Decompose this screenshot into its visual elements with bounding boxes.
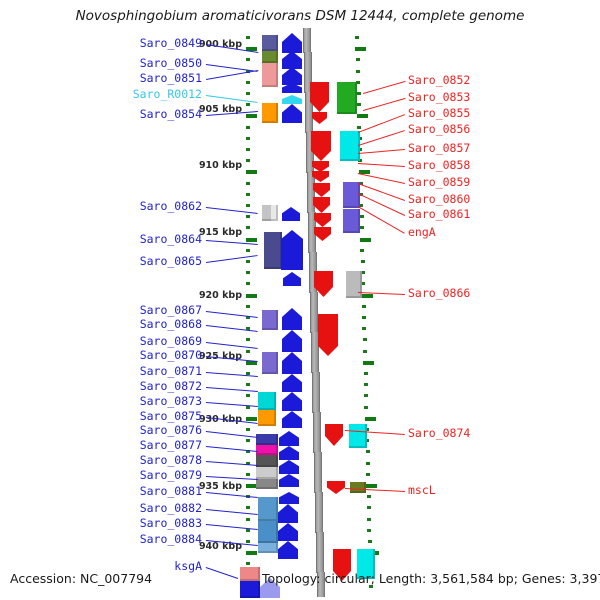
leader-line-left: [206, 255, 258, 263]
gene-box-reverse[interactable]: [337, 82, 357, 114]
tick-mark-left: [246, 193, 250, 196]
feature-label-right[interactable]: Saro_0866: [408, 286, 470, 300]
tick-mark-left: [246, 126, 250, 129]
feature-label-left[interactable]: Saro_0882: [60, 501, 202, 515]
tick-mark-left: [246, 81, 250, 84]
tick-mark-right: [366, 450, 370, 453]
leader-line-left: [206, 207, 258, 214]
gene-box-forward[interactable]: [256, 467, 278, 479]
tick-mark-left: [246, 506, 250, 509]
feature-label-right[interactable]: Saro_0860: [408, 192, 470, 206]
leader-line-left: [206, 476, 258, 480]
tick-mark-right: [363, 338, 367, 341]
gene-arrow-forward[interactable]: [282, 411, 302, 428]
gene-box-forward[interactable]: [256, 455, 278, 467]
tick-mark-right: [362, 327, 366, 330]
feature-label-left[interactable]: Saro_0849: [60, 36, 202, 50]
feature-label-left[interactable]: Saro_0862: [60, 199, 202, 213]
gene-box-forward[interactable]: [256, 479, 278, 489]
feature-label-right[interactable]: mscL: [408, 483, 436, 497]
feature-label-left[interactable]: Saro_0854: [60, 107, 202, 121]
tick-mark-left: [246, 428, 250, 431]
gene-arrow-forward[interactable]: [282, 330, 302, 352]
feature-label-left[interactable]: Saro_0872: [60, 379, 202, 393]
gene-box-forward[interactable]: [262, 35, 278, 51]
feature-label-right[interactable]: Saro_0855: [408, 106, 470, 120]
tick-mark-left: [246, 226, 250, 229]
leader-line-left: [206, 509, 258, 515]
tick-mark-left: [246, 417, 257, 421]
feature-label-left[interactable]: Saro_0869: [60, 334, 202, 348]
tick-mark-right: [362, 294, 373, 298]
accession-status: Accession: NC_007794: [10, 571, 152, 586]
feature-label-left[interactable]: Saro_0884: [60, 532, 202, 546]
tick-mark-right: [362, 305, 366, 308]
tick-mark-left: [246, 529, 250, 532]
tick-mark-left: [246, 159, 250, 162]
tick-mark-right: [357, 92, 361, 95]
ruler-tick-label: 920 kbp: [186, 290, 242, 301]
tick-mark-left: [246, 305, 250, 308]
gene-arrow-reverse[interactable]: [325, 424, 343, 446]
tick-mark-left: [246, 350, 250, 353]
tick-mark-left: [246, 249, 250, 252]
gene-box-forward[interactable]: [240, 581, 260, 598]
tick-mark-right: [367, 495, 371, 498]
feature-label-right[interactable]: Saro_0874: [408, 426, 470, 440]
leader-line-left: [206, 524, 258, 530]
tick-mark-left: [246, 551, 257, 555]
tick-mark-left: [246, 260, 250, 263]
tick-mark-right: [357, 114, 368, 118]
gene-box-forward[interactable]: [240, 567, 260, 581]
tick-mark-right: [355, 47, 366, 51]
tick-mark-right: [360, 249, 364, 252]
feature-label-right[interactable]: Saro_0857: [408, 141, 470, 155]
leader-line-left: [206, 402, 258, 407]
gene-box-forward[interactable]: [262, 310, 278, 330]
gene-box-forward[interactable]: [262, 352, 278, 374]
tick-mark-right: [367, 518, 371, 521]
tick-mark-left: [246, 238, 257, 242]
tick-mark-right: [365, 417, 376, 421]
tick-mark-right: [356, 70, 360, 73]
gene-arrow-forward[interactable]: [282, 352, 302, 374]
feature-label-right[interactable]: Saro_0852: [408, 73, 470, 87]
tick-mark-right: [360, 215, 364, 218]
gene-arrow-forward[interactable]: [279, 431, 299, 446]
feature-label-right[interactable]: Saro_0856: [408, 122, 470, 136]
feature-label-right[interactable]: engA: [408, 225, 436, 239]
tick-mark-left: [246, 282, 250, 285]
feature-label-left[interactable]: Saro_0850: [60, 56, 202, 70]
tick-mark-left: [246, 215, 250, 218]
gene-arrow-forward[interactable]: [282, 67, 302, 85]
feature-label-left[interactable]: Saro_0867: [60, 303, 202, 317]
tick-mark-left: [246, 540, 250, 543]
tick-mark-right: [364, 383, 368, 386]
feature-label-left[interactable]: Saro_R0012: [60, 87, 202, 101]
gene-arrow-forward[interactable]: [279, 474, 299, 487]
feature-label-left[interactable]: Saro_0878: [60, 453, 202, 467]
tick-mark-right: [367, 529, 371, 532]
leader-line-left: [206, 492, 258, 498]
tick-mark-left: [246, 338, 250, 341]
gene-arrow-forward[interactable]: [282, 207, 300, 221]
leader-line-right: [358, 183, 405, 201]
gene-box-forward[interactable]: [258, 543, 278, 553]
feature-label-left[interactable]: Saro_0851: [60, 71, 202, 85]
gene-box-reverse[interactable]: [349, 424, 367, 448]
tick-mark-right: [364, 406, 368, 409]
leader-line-left: [206, 311, 258, 318]
tick-mark-right: [357, 103, 361, 106]
gene-arrow-forward[interactable]: [282, 33, 302, 53]
feature-label-right[interactable]: Saro_0858: [408, 158, 470, 172]
gene-arrow-forward[interactable]: [282, 308, 302, 330]
gene-arrow-reverse[interactable]: [314, 227, 331, 241]
gene-box-reverse[interactable]: [340, 131, 360, 161]
gene-arrow-reverse[interactable]: [327, 481, 345, 494]
tick-mark-left: [246, 394, 250, 397]
tick-mark-left: [246, 294, 257, 298]
gene-box-forward[interactable]: [256, 434, 278, 445]
leader-line-left: [206, 387, 258, 392]
feature-label-left[interactable]: Saro_0883: [60, 516, 202, 530]
feature-label-left[interactable]: Saro_0875: [60, 409, 202, 423]
tick-mark-left: [246, 148, 250, 151]
feature-label-left[interactable]: Saro_0873: [60, 394, 202, 408]
feature-label-right[interactable]: Saro_0861: [408, 207, 470, 221]
gene-arrow-forward[interactable]: [279, 460, 299, 474]
tick-mark-left: [246, 58, 250, 61]
ruler-tick-label: 910 kbp: [186, 160, 242, 171]
tick-mark-right: [357, 126, 361, 129]
feature-label-left[interactable]: Saro_0865: [60, 254, 202, 268]
tick-mark-right: [360, 238, 371, 242]
leader-line-left: [206, 431, 258, 438]
tick-mark-left: [246, 518, 250, 521]
gene-box-forward[interactable]: [262, 51, 278, 63]
gene-box-forward[interactable]: [258, 410, 276, 426]
gene-arrow-reverse[interactable]: [312, 161, 329, 172]
gene-arrow-forward[interactable]: [281, 230, 303, 270]
tick-mark-left: [246, 103, 250, 106]
tick-mark-right: [356, 58, 360, 61]
gene-box-forward[interactable]: [258, 521, 278, 543]
tick-mark-left: [246, 92, 250, 95]
gene-arrow-forward[interactable]: [278, 541, 298, 559]
leader-line-right: [358, 163, 405, 167]
gene-box-reverse[interactable]: [346, 271, 362, 298]
leader-line-right: [358, 206, 405, 234]
leader-line-left: [206, 446, 258, 452]
tick-mark-left: [246, 137, 250, 140]
leader-line-right: [358, 130, 405, 146]
leader-line-right: [358, 173, 405, 184]
feature-label-left[interactable]: Saro_0868: [60, 317, 202, 331]
gene-arrow-forward[interactable]: [279, 492, 299, 504]
leader-line-right: [358, 149, 405, 154]
gene-box-reverse[interactable]: [343, 182, 360, 208]
feature-label-left[interactable]: Saro_0870: [60, 348, 202, 362]
gene-arrow-reverse[interactable]: [313, 197, 330, 213]
gene-box-reverse[interactable]: [343, 209, 360, 233]
leader-line-left: [206, 461, 258, 466]
tick-mark-right: [364, 394, 368, 397]
gene-arrow-forward[interactable]: [282, 104, 302, 123]
gene-arrow-forward[interactable]: [282, 374, 302, 392]
tick-mark-left: [246, 36, 250, 39]
gene-box-forward[interactable]: [262, 103, 278, 123]
axis-segment: [317, 588, 325, 597]
leader-line-left: [206, 372, 258, 377]
tick-mark-left: [246, 182, 250, 185]
genome-browser-canvas: Novosphingobium aromaticivorans DSM 1244…: [0, 0, 600, 600]
gene-arrow-forward[interactable]: [282, 51, 302, 69]
gene-box-forward[interactable]: [256, 445, 278, 455]
topology-status: Topology: circular; Length: 3,561,584 bp…: [262, 571, 600, 586]
tick-mark-right: [363, 361, 374, 365]
feature-label-left[interactable]: Saro_0881: [60, 484, 202, 498]
tick-mark-left: [246, 439, 250, 442]
feature-label-left[interactable]: Saro_0864: [60, 232, 202, 246]
page-title: Novosphingobium aromaticivorans DSM 1244…: [0, 8, 600, 24]
tick-mark-right: [360, 226, 364, 229]
tick-mark-right: [361, 260, 365, 263]
leader-line-left: [206, 70, 258, 80]
gene-arrow-forward[interactable]: [279, 446, 299, 460]
leader-line-right: [363, 98, 405, 111]
gene-arrow-reverse[interactable]: [314, 213, 331, 227]
tick-mark-left: [246, 473, 250, 476]
tick-mark-left: [246, 383, 250, 386]
gene-box-forward[interactable]: [258, 392, 276, 410]
leader-line-left: [206, 342, 258, 349]
gene-arrow-forward[interactable]: [278, 504, 298, 523]
leader-line-left: [206, 95, 258, 103]
feature-label-left[interactable]: Saro_0879: [60, 468, 202, 482]
gene-arrow-reverse[interactable]: [318, 314, 338, 356]
tick-mark-left: [246, 271, 250, 274]
tick-mark-right: [355, 36, 359, 39]
tick-mark-right: [366, 484, 377, 488]
feature-label-left[interactable]: Saro_0877: [60, 438, 202, 452]
gene-arrow-reverse[interactable]: [313, 183, 330, 197]
tick-mark-right: [363, 350, 367, 353]
tick-mark-right: [367, 506, 371, 509]
tick-mark-left: [246, 114, 257, 118]
tick-mark-left: [246, 170, 257, 174]
tick-mark-right: [368, 540, 372, 543]
gene-box-forward[interactable]: [262, 63, 278, 87]
tick-mark-left: [246, 562, 250, 565]
leader-line-left: [206, 325, 258, 332]
tick-mark-right: [366, 462, 370, 465]
gene-arrow-reverse[interactable]: [312, 112, 327, 124]
tick-mark-left: [246, 406, 250, 409]
feature-label-right[interactable]: Saro_0859: [408, 175, 470, 189]
gene-box-forward[interactable]: [264, 232, 282, 269]
gene-arrow-forward[interactable]: [282, 392, 302, 411]
leader-line-right: [363, 81, 405, 94]
gene-arrow-forward[interactable]: [282, 95, 302, 104]
gene-arrow-forward[interactable]: [283, 272, 301, 286]
feature-label-right[interactable]: Saro_0853: [408, 90, 470, 104]
tick-mark-left: [246, 204, 250, 207]
tick-mark-right: [362, 316, 366, 319]
tick-mark-right: [366, 473, 370, 476]
feature-label-left[interactable]: Saro_0876: [60, 423, 202, 437]
gene-box-forward[interactable]: [271, 205, 278, 221]
gene-box-forward[interactable]: [258, 497, 278, 521]
feature-label-left[interactable]: Saro_0871: [60, 364, 202, 378]
leader-line-left: [206, 567, 238, 579]
gene-arrow-forward[interactable]: [278, 523, 298, 541]
leader-line-right: [358, 193, 405, 216]
tick-mark-right: [364, 372, 368, 375]
